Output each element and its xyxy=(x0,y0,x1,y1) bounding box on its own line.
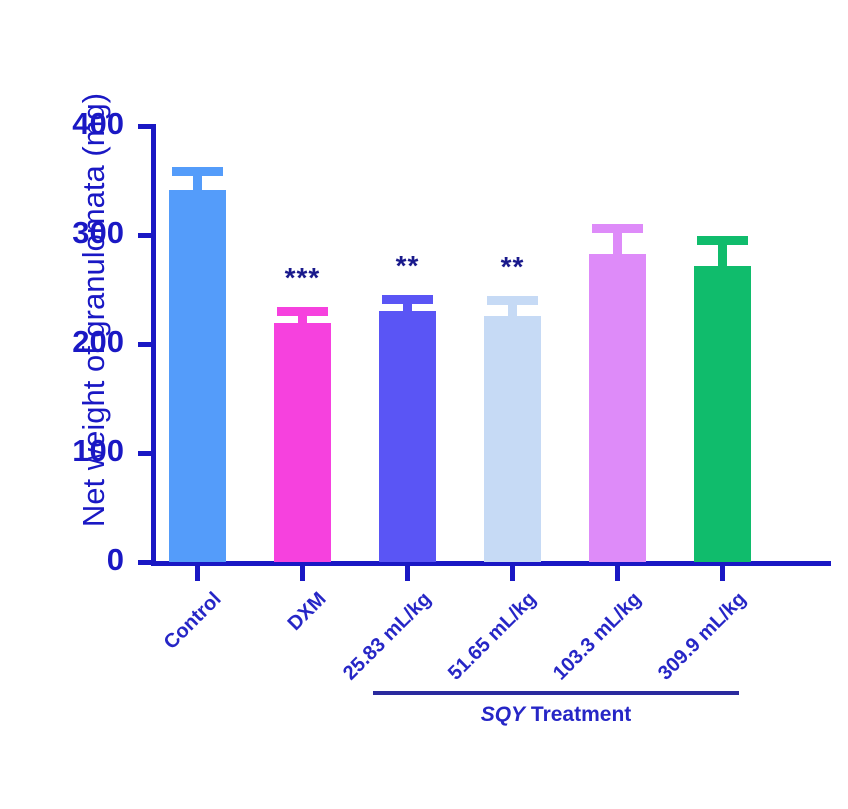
bar-control xyxy=(169,190,226,562)
treatment-group-label: SQY Treatment xyxy=(373,703,739,727)
y-tick-label-400: 400 xyxy=(4,108,124,139)
error-bar-cap-sqy-103-3 xyxy=(592,224,643,233)
y-tick-300 xyxy=(138,233,152,238)
bar-chart-figure: Net weight of granulomata (mg) 400 300 2… xyxy=(0,0,848,763)
treatment-group-text: Treatment xyxy=(525,703,631,726)
bar-sqy-309-9 xyxy=(694,266,751,562)
x-tick-label-sqy-51-65: 51.65 mL/kg xyxy=(320,588,541,809)
y-tick-label-200: 200 xyxy=(4,326,124,357)
x-tick-label-sqy-309-9: 309.9 mL/kg xyxy=(530,588,751,809)
x-tick-label-dxm: DXM xyxy=(110,588,331,809)
x-tick-label-sqy-25-83: 25.83 mL/kg xyxy=(215,588,436,809)
error-bar-cap-sqy-309-9 xyxy=(697,236,748,245)
bar-sqy-25-83 xyxy=(379,311,436,562)
x-tick-1 xyxy=(300,566,305,581)
x-tick-2 xyxy=(405,566,410,581)
treatment-group-abbr: SQY xyxy=(481,703,525,726)
y-tick-100 xyxy=(138,451,152,456)
error-bar-cap-sqy-25-83 xyxy=(382,295,433,304)
bar-sqy-51-65 xyxy=(484,316,541,562)
error-bar-cap-control xyxy=(172,167,223,176)
treatment-group-bracket xyxy=(373,691,739,695)
significance-marker-sqy-25-83: ** xyxy=(377,252,438,280)
x-tick-5 xyxy=(720,566,725,581)
x-tick-label-sqy-103-3: 103.3 mL/kg xyxy=(425,588,646,809)
bar-sqy-103-3 xyxy=(589,254,646,562)
y-tick-label-100: 100 xyxy=(4,435,124,466)
y-tick-label-300: 300 xyxy=(4,217,124,248)
significance-marker-sqy-51-65: ** xyxy=(482,253,543,281)
y-tick-0 xyxy=(138,560,152,565)
x-tick-0 xyxy=(195,566,200,581)
y-axis-title: Net weight of granulomata (mg) xyxy=(62,0,126,620)
x-tick-label-control: Control xyxy=(5,588,226,809)
x-tick-4 xyxy=(615,566,620,581)
error-bar-cap-sqy-51-65 xyxy=(487,296,538,305)
y-tick-400 xyxy=(138,124,152,129)
y-tick-label-0: 0 xyxy=(4,544,124,575)
x-tick-3 xyxy=(510,566,515,581)
significance-marker-dxm: *** xyxy=(272,264,333,292)
y-tick-200 xyxy=(138,342,152,347)
error-bar-cap-dxm xyxy=(277,307,328,316)
bar-dxm xyxy=(274,323,331,562)
